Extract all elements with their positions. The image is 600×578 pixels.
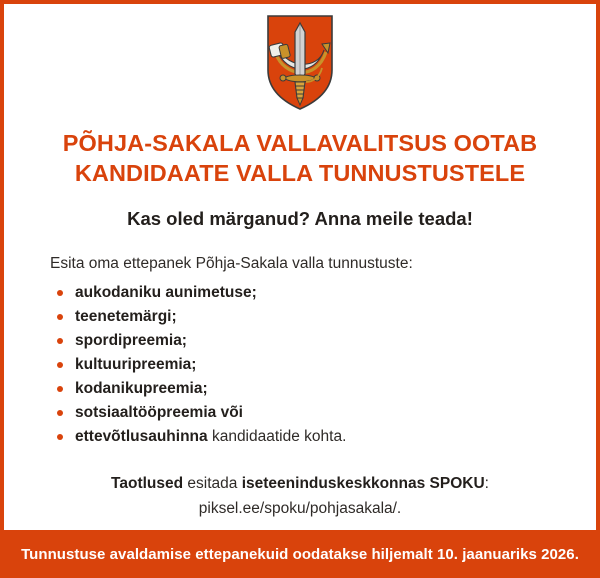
bullet-icon [57, 386, 63, 392]
list-item: kultuuripreemia; [75, 353, 596, 377]
lead-in-text: Esita oma ettepanek Põhja-Sakala valla t… [50, 254, 596, 274]
deadline-banner: Tunnustuse avaldamise ettepanekuid oodat… [0, 530, 600, 578]
list-item-label: teenetemärgi; [75, 308, 177, 325]
pohja-sakala-coat-of-arms-icon [262, 12, 338, 112]
page-subtitle: Kas oled märganud? Anna meile teada! [4, 207, 596, 231]
list-item-tail: kandidaatide kohta. [208, 428, 347, 445]
application-portal-name: iseteeninduskeskkonnas SPOKU [242, 475, 485, 492]
list-item: sotsiaaltööpreemia või [75, 401, 596, 425]
list-item: ettevõtlusauhinna kandidaatide kohta. [75, 425, 596, 449]
deadline-text: Tunnustuse avaldamise ettepanekuid oodat… [21, 546, 579, 563]
application-url[interactable]: piksel.ee/spoku/pohjasakala/. [4, 496, 596, 521]
bullet-icon [57, 362, 63, 368]
list-item-label: ettevõtlusauhinna [75, 428, 208, 445]
bullet-icon [57, 314, 63, 320]
bullet-icon [57, 290, 63, 296]
list-item: spordipreemia; [75, 329, 596, 353]
application-keyword: Taotlused [111, 475, 183, 492]
application-connector: esitada [183, 475, 242, 492]
page-title-line-1: PÕHJA-SAKALA VALLAVALITSUS OOTAB [4, 128, 596, 158]
list-item-label: sotsiaaltööpreemia või [75, 404, 243, 421]
list-item-label: aukodaniku aunimetuse; [75, 284, 257, 301]
award-list: aukodaniku aunimetuse; teenetemärgi; spo… [50, 281, 596, 449]
page-title: PÕHJA-SAKALA VALLAVALITSUS OOTAB KANDIDA… [4, 128, 596, 188]
bullet-icon [57, 434, 63, 440]
bullet-icon [57, 410, 63, 416]
list-item-label: kodanikupreemia; [75, 380, 208, 397]
list-item-label: spordipreemia; [75, 332, 187, 349]
list-item: aukodaniku aunimetuse; [75, 281, 596, 305]
application-info: Taotlused esitada iseteeninduskeskkonnas… [4, 471, 596, 521]
bullet-icon [57, 338, 63, 344]
list-item: teenetemärgi; [75, 305, 596, 329]
crest-container [4, 4, 596, 112]
list-item-label: kultuuripreemia; [75, 356, 196, 373]
page-title-line-2: KANDIDAATE VALLA TUNNUSTUSTELE [4, 158, 596, 188]
body-content: Esita oma ettepanek Põhja-Sakala valla t… [4, 254, 596, 449]
application-instructions: Taotlused esitada iseteeninduskeskkonnas… [4, 471, 596, 496]
list-item: kodanikupreemia; [75, 377, 596, 401]
application-colon: : [485, 475, 489, 492]
poster-root: PÕHJA-SAKALA VALLAVALITSUS OOTAB KANDIDA… [0, 0, 600, 578]
